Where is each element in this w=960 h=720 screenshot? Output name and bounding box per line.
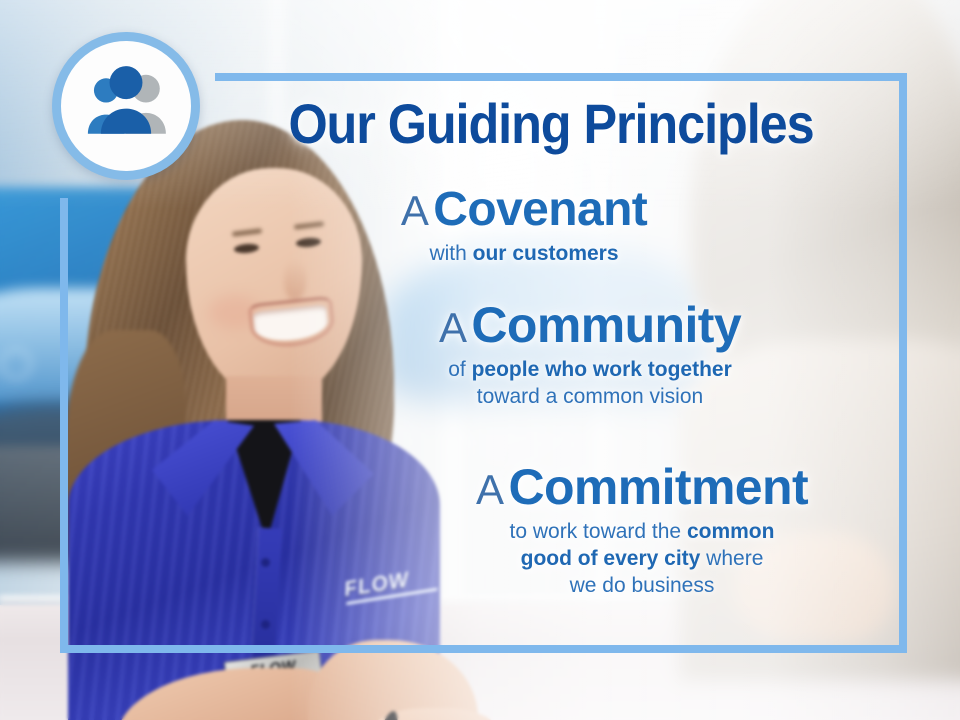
page-title: Our Guiding Principles [249,96,854,152]
subtext-emphasis: good of every city [521,547,701,570]
subtext-emphasis: our customers [473,242,619,265]
principle-article: A [439,304,467,351]
principle-subtext: of people who work togethertoward a comm… [330,357,850,411]
principle-word: Community [471,297,741,353]
subtext-run: to work toward the [510,520,687,543]
subtext-run: we do business [570,574,715,597]
subtext-line: we do business [392,573,892,600]
subtext-emphasis: common [687,520,775,543]
subtext-run: with [429,242,472,265]
banner-content: Our Guiding Principles A Covenant with o… [0,0,960,720]
principle-word: Commitment [508,459,808,515]
principle-article: A [476,466,504,513]
principle-commitment: A Commitment to work toward the commongo… [392,462,892,600]
principle-subtext: with our customers [296,241,752,268]
principle-headline: A Covenant [296,186,752,235]
subtext-line: toward a common vision [330,384,850,411]
subtext-run: of [448,358,471,381]
guiding-principles-banner: FLOW FLOW AUTOMOTIVE [0,0,960,720]
principle-headline: A Commitment [392,462,892,513]
subtext-line: good of every city where [392,546,892,573]
principle-covenant: A Covenant with our customers [296,186,752,268]
subtext-emphasis: people who work together [472,358,732,381]
subtext-run: where [700,547,763,570]
principle-subtext: to work toward the commongood of every c… [392,519,892,600]
subtext-run: toward a common vision [477,385,703,408]
principle-word: Covenant [433,183,647,236]
subtext-line: with our customers [296,241,752,268]
subtext-line: to work toward the common [392,519,892,546]
principle-headline: A Community [330,300,850,351]
principle-article: A [401,187,429,234]
principle-community: A Community of people who work togethert… [330,300,850,411]
subtext-line: of people who work together [330,357,850,384]
